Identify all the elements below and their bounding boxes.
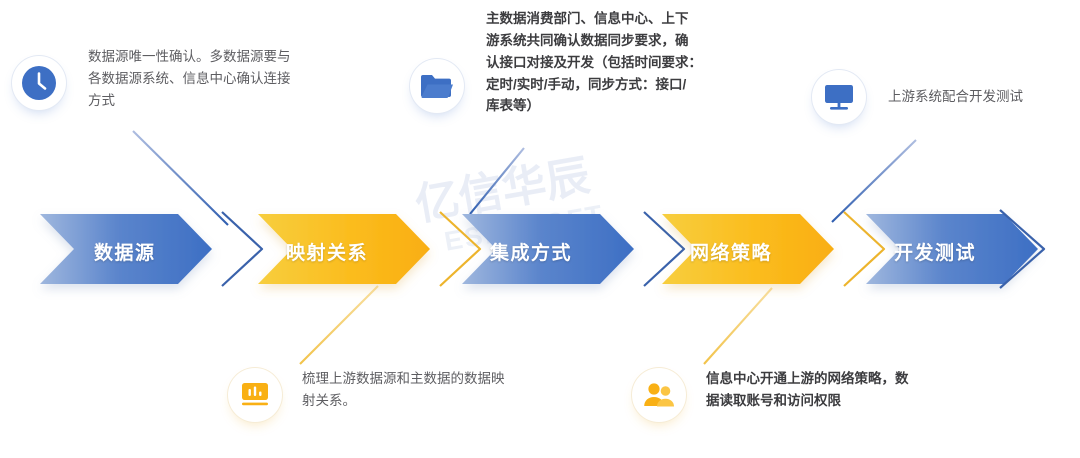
callout-integration: 主数据消费部门、信息中心、上下 游系统共同确认数据同步要求，确 认接口对接及开发… <box>410 6 770 119</box>
callout-mapping: 梳理上游数据源和主数据的数据映 射关系。 <box>228 368 568 422</box>
callout-network: 信息中心开通上游的网络策略，数 据读取账号和访问权限 <box>632 368 1052 422</box>
folder-icon <box>420 71 454 101</box>
arrow-step-4-label: 网络策略 <box>690 238 772 265</box>
callout-datasource: 数据源唯一性确认。多数据源要与 各数据源系统、信息中心确认连接 方式 <box>12 56 342 112</box>
arrow-step-3-label: 集成方式 <box>490 238 572 265</box>
callout-mapping-text: 梳理上游数据源和主数据的数据映 射关系。 <box>302 366 505 412</box>
callout-devtest: 上游系统配合开发测试 <box>812 70 1080 124</box>
callout-datasource-text: 数据源唯一性确认。多数据源要与 各数据源系统、信息中心确认连接 方式 <box>88 44 291 112</box>
monitor-icon-wrapper <box>812 70 866 124</box>
users-icon-wrapper <box>632 368 686 422</box>
clock-icon <box>19 63 59 103</box>
chart-monitor-icon <box>238 380 272 410</box>
arrow-step-5-label: 开发测试 <box>894 238 976 265</box>
diagram-canvas: 亿信华辰 ESENSOFT <box>0 0 1080 458</box>
chevron-1-icon <box>222 212 262 286</box>
callout-devtest-text: 上游系统配合开发测试 <box>888 84 1023 108</box>
arrow-step-1-label: 数据源 <box>94 238 156 265</box>
callout-integration-text: 主数据消费部门、信息中心、上下 游系统共同确认数据同步要求，确 认接口对接及开发… <box>486 6 702 117</box>
folder-icon-wrapper <box>410 59 464 113</box>
users-icon <box>642 380 676 410</box>
clock-icon-wrapper <box>12 56 66 110</box>
callout-network-text: 信息中心开通上游的网络策略，数 据读取账号和访问权限 <box>706 366 909 412</box>
chart-monitor-icon-wrapper <box>228 368 282 422</box>
monitor-icon <box>822 82 856 112</box>
arrow-step-2-label: 映射关系 <box>286 238 368 265</box>
